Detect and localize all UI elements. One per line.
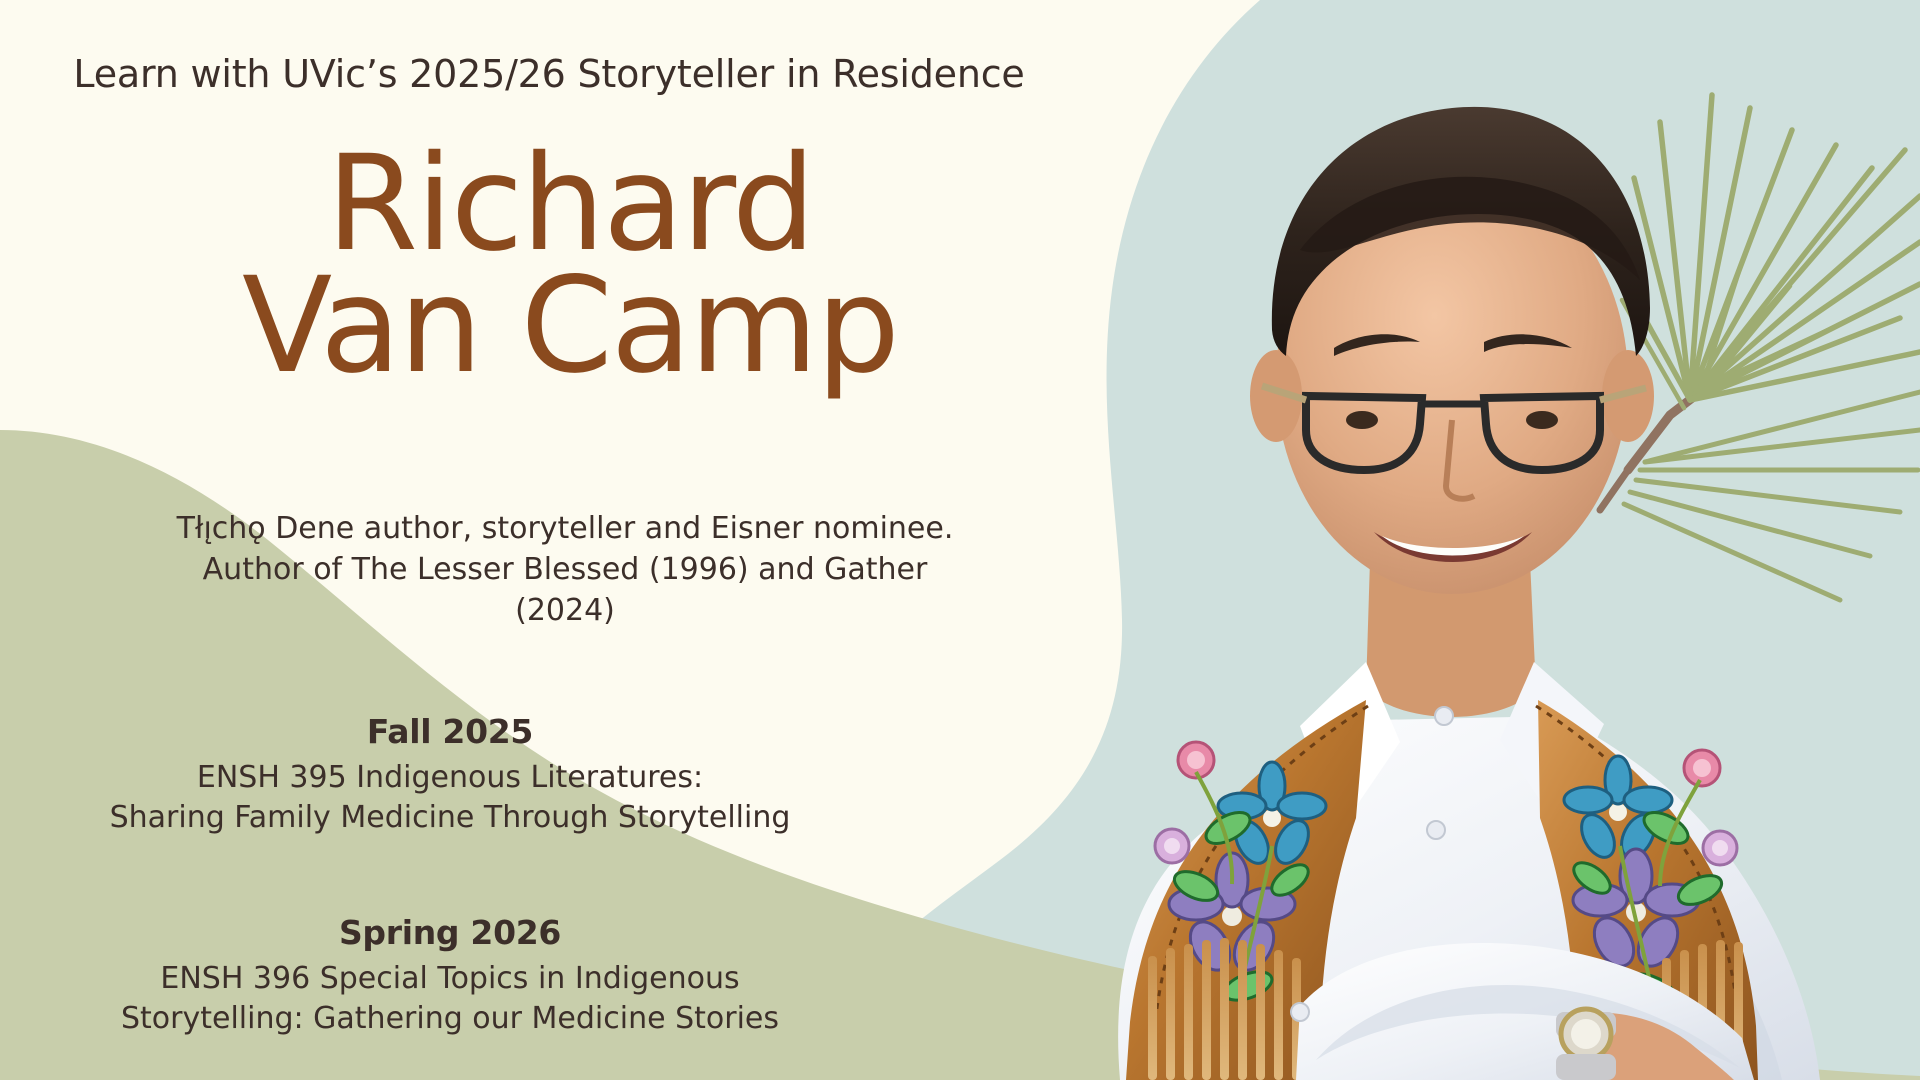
page-title: Richard Van Camp — [0, 140, 1140, 390]
bio-text: Tłı̨chǫ Dene author, storyteller and Eis… — [0, 508, 1130, 631]
term-heading: Spring 2026 — [0, 913, 900, 952]
bio-line-3: (2024) — [0, 590, 1130, 631]
course-title-line-2: Storytelling: Gathering our Medicine Sto… — [0, 999, 900, 1039]
course-title-line-1: ENSH 396 Special Topics in Indigenous — [0, 959, 900, 999]
eye-right — [1526, 411, 1558, 429]
term-block-fall: Fall 2025 ENSH 395 Indigenous Literature… — [0, 712, 900, 837]
eyebrow-line: Learn with UVic’s 2025/26 Storyteller in… — [0, 52, 1080, 96]
flower-pink-right — [1684, 750, 1720, 786]
course-title-line-2: Sharing Family Medicine Through Storytel… — [0, 798, 900, 838]
bio-line-1: Tłı̨chǫ Dene author, storyteller and Eis… — [0, 508, 1130, 549]
wristwatch-icon — [1556, 1009, 1616, 1080]
portrait-figure — [1118, 107, 1820, 1080]
flower-lilac — [1155, 829, 1189, 863]
eye-left — [1346, 411, 1378, 429]
text-column: Learn with UVic’s 2025/26 Storyteller in… — [0, 0, 1080, 1080]
course-title-line-1: ENSH 395 Indigenous Literatures: — [0, 758, 900, 798]
title-line-last: Van Camp — [0, 262, 1140, 390]
poster-canvas: Learn with UVic’s 2025/26 Storyteller in… — [0, 0, 1920, 1080]
term-heading: Fall 2025 — [0, 712, 900, 751]
term-block-spring: Spring 2026 ENSH 396 Special Topics in I… — [0, 913, 900, 1038]
flower-lilac-right — [1703, 831, 1737, 865]
bio-line-2: Author of The Lesser Blessed (1996) and … — [0, 549, 1130, 590]
